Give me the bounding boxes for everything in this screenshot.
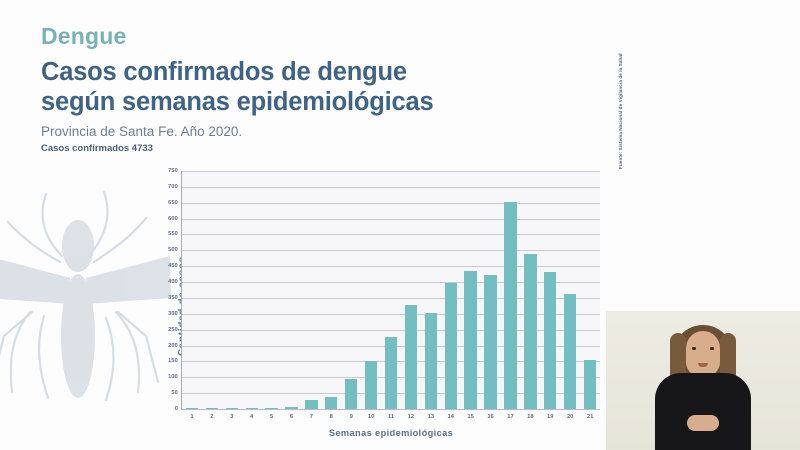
- bar[interactable]: [305, 400, 317, 409]
- bar-series: 123456789101112131415161718192021: [182, 171, 600, 409]
- bar-slot[interactable]: 11: [381, 171, 401, 409]
- chart-source: Fuente: Sistema Nacional de Vigilancia d…: [618, 53, 623, 169]
- bar[interactable]: [365, 361, 377, 409]
- y-axis-tick-label: 100: [138, 374, 178, 380]
- bar-slot[interactable]: 16: [481, 171, 501, 409]
- x-axis-tick-label: 2: [202, 414, 222, 420]
- interpreter-eye-right: [710, 347, 714, 350]
- y-axis-tick-label: 500: [138, 247, 178, 253]
- x-axis-tick-label: 12: [401, 414, 421, 420]
- x-axis-tick-label: 8: [321, 414, 341, 420]
- bar[interactable]: [544, 272, 556, 409]
- bar-slot[interactable]: 12: [401, 171, 421, 409]
- bar[interactable]: [265, 408, 277, 409]
- bar-slot[interactable]: 5: [262, 171, 282, 409]
- y-axis-tick-label: 650: [138, 200, 178, 206]
- x-axis-tick-label: 17: [501, 414, 521, 420]
- x-axis-tick-label: 18: [520, 414, 540, 420]
- x-axis-tick-label: 7: [301, 414, 321, 420]
- bar[interactable]: [405, 305, 417, 409]
- bar-chart: Cantidad de casos 7507006506005505004504…: [140, 163, 640, 448]
- bar[interactable]: [504, 202, 516, 409]
- y-axis-tick-label: 350: [138, 295, 178, 301]
- x-axis-tick-label: 16: [481, 414, 501, 420]
- bar-slot[interactable]: 21: [580, 171, 600, 409]
- bar-slot[interactable]: 17: [501, 171, 521, 409]
- x-axis-tick-label: 14: [441, 414, 461, 420]
- bar-slot[interactable]: 4: [242, 171, 262, 409]
- bar[interactable]: [445, 283, 457, 409]
- bar-slot[interactable]: 7: [301, 171, 321, 409]
- confirmed-cases-note: Casos confirmados 4733: [41, 143, 153, 154]
- x-axis-tick-label: 9: [341, 414, 361, 420]
- bar-slot[interactable]: 1: [182, 171, 202, 409]
- y-axis-tick-label: 150: [138, 358, 178, 364]
- gridline: [182, 409, 600, 410]
- x-axis-tick-label: 13: [421, 414, 441, 420]
- bar[interactable]: [584, 360, 596, 410]
- bar-slot[interactable]: 14: [441, 171, 461, 409]
- x-axis-tick-label: 3: [222, 414, 242, 420]
- interpreter-eye-left: [692, 347, 696, 350]
- bar[interactable]: [385, 337, 397, 409]
- x-axis-tick-label: 5: [262, 414, 282, 420]
- x-axis-tick-label: 6: [282, 414, 302, 420]
- bar[interactable]: [246, 408, 258, 409]
- bar[interactable]: [345, 379, 357, 409]
- y-axis-tick-label: 700: [138, 184, 178, 190]
- x-axis-tick-label: 11: [381, 414, 401, 420]
- bar[interactable]: [484, 275, 496, 409]
- bar-slot[interactable]: 20: [560, 171, 580, 409]
- y-axis-tick-label: 200: [138, 343, 178, 349]
- bar[interactable]: [226, 408, 238, 409]
- bar[interactable]: [464, 271, 476, 409]
- y-axis-tick-label: 550: [138, 231, 178, 237]
- y-axis-tick-label: 400: [138, 279, 178, 285]
- y-axis-tick-label: 600: [138, 216, 178, 222]
- bar[interactable]: [564, 294, 576, 409]
- bar-slot[interactable]: 8: [321, 171, 341, 409]
- bar-slot[interactable]: 19: [540, 171, 560, 409]
- section-kicker: Dengue: [41, 23, 127, 50]
- bar[interactable]: [524, 254, 536, 409]
- bar[interactable]: [206, 408, 218, 409]
- interpreter-face: [686, 331, 720, 377]
- sign-language-video[interactable]: [606, 311, 800, 450]
- bar-slot[interactable]: 18: [520, 171, 540, 409]
- slide-root: Dengue Casos confirmados de dengue según…: [0, 0, 800, 450]
- bar-slot[interactable]: 2: [202, 171, 222, 409]
- bar-slot[interactable]: 9: [341, 171, 361, 409]
- bar[interactable]: [425, 313, 437, 409]
- x-axis-tick-label: 15: [461, 414, 481, 420]
- interpreter-torso: [655, 373, 751, 450]
- y-axis-tick-label: 0: [138, 406, 178, 412]
- bar[interactable]: [186, 408, 198, 409]
- x-axis-tick-label: 10: [361, 414, 381, 420]
- bar-slot[interactable]: 13: [421, 171, 441, 409]
- x-axis-tick-label: 1: [182, 414, 202, 420]
- bar-slot[interactable]: 6: [282, 171, 302, 409]
- page-subtitle: Provincia de Santa Fe. Año 2020.: [41, 124, 242, 139]
- bar[interactable]: [285, 407, 297, 409]
- y-axis-tick-label: 250: [138, 327, 178, 333]
- page-title: Casos confirmados de dengue según semana…: [41, 58, 433, 118]
- y-axis-tick-label: 750: [138, 168, 178, 174]
- y-axis-tick-label: 450: [138, 263, 178, 269]
- bar-slot[interactable]: 3: [222, 171, 242, 409]
- x-axis-tick-label: 21: [580, 414, 600, 420]
- x-axis-tick-label: 19: [540, 414, 560, 420]
- x-axis-tick-label: 4: [242, 414, 262, 420]
- bar-slot[interactable]: 15: [461, 171, 481, 409]
- y-axis-tick-label: 300: [138, 311, 178, 317]
- interpreter-hands: [687, 415, 719, 431]
- bar-slot[interactable]: 10: [361, 171, 381, 409]
- x-axis-tick-label: 20: [560, 414, 580, 420]
- y-axis-tick-label: 50: [138, 390, 178, 396]
- bar[interactable]: [325, 397, 337, 409]
- x-axis-label: Semanas epidemiológicas: [182, 428, 600, 438]
